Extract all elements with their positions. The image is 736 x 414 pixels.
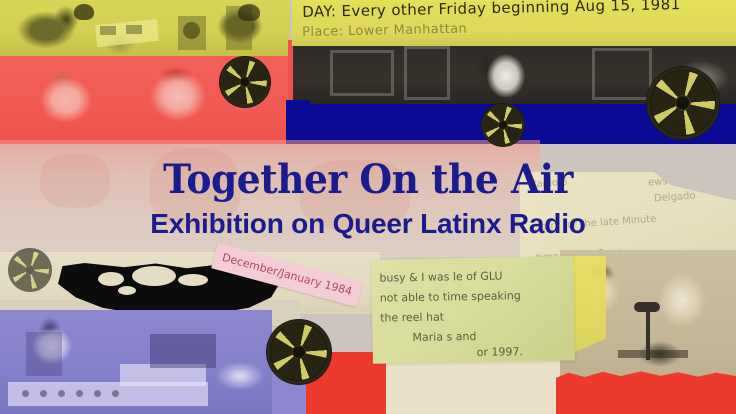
photo-radio-studio-purple: [0, 310, 272, 414]
cream-block-bottom: [386, 360, 562, 414]
pink-overlay-band: [0, 140, 540, 258]
tape-reel-1-icon: [219, 56, 271, 108]
green-note-line-3: the reel hat: [380, 308, 566, 324]
photo-radio-studio-yellow: [0, 0, 290, 58]
red-torn-band: [556, 370, 736, 414]
note-green-handwritten: busy & I was le of GLU not able to time …: [371, 256, 575, 364]
cream-note-line-4: Sorry for the late Minute: [534, 214, 657, 234]
note-yellow-handwritten: DAY: Every other Friday beginning Aug 15…: [292, 0, 736, 46]
tape-reel-2-icon: [481, 103, 525, 147]
exhibition-poster: DAY: Every other Friday beginning Aug 15…: [0, 0, 736, 414]
green-note-line-5: or 1997.: [477, 344, 567, 359]
tape-reel-4-icon: [266, 319, 332, 385]
cream-note-line-3: Delgado: [654, 191, 696, 205]
green-note-line-2: not able to time speaking: [380, 288, 566, 304]
green-note-line-4: Maria s and: [412, 328, 566, 344]
tape-reel-5-icon: [8, 248, 52, 292]
tape-reel-3-icon: [646, 66, 720, 140]
green-note-line-1: busy & I was le of GLU: [379, 268, 565, 284]
cream-note-line-1: Radio 6: [530, 177, 568, 191]
